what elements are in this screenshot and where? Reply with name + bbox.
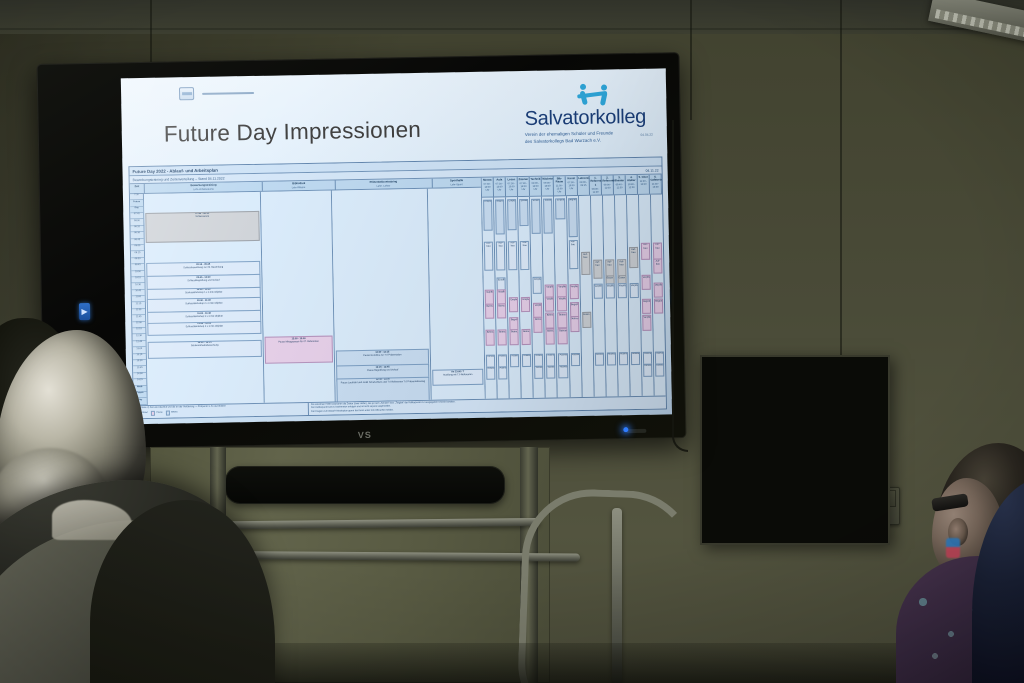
block-label: Ausklang: [560, 366, 568, 368]
block-label: SchlussWorkshop 3 x 3 min Objekte: [185, 315, 222, 318]
block-label: SchlussWorkshop 1 x 3 min Objekte: [185, 292, 222, 295]
block-label: Ausklang: [572, 354, 580, 356]
lane-bewerbungstraining: 07:30 - 08:15Schlussworte09:15 - 09:45Sc…: [144, 192, 265, 405]
schedule-block[interactable]: Auf­bau: [496, 241, 506, 271]
organisation-logo: Salvatorkolleg Verein der ehemaligen Sch…: [524, 83, 653, 146]
block-label: SchlussWorkshop 2 x 3 min Objekte: [185, 303, 222, 306]
schedule-block[interactable]: Einweisung: [543, 198, 553, 234]
block-label: Verpflegung: [558, 286, 566, 288]
block-label: SchlussBegrüßung und Vorlauf: [187, 279, 219, 282]
schedule-block[interactable]: Ausklang: [619, 352, 628, 365]
schedule-block[interactable]: Ausklang: [547, 365, 556, 378]
block-label: Einweisung: [521, 200, 529, 202]
schedule-document: Future Day 2022 - Ablauf- und Arbeitspla…: [128, 156, 667, 419]
block-label: Schlussworte: [195, 216, 209, 218]
schedule-block[interactable]: Ausklang: [534, 365, 543, 378]
schedule-block[interactable]: Auf­bau: [484, 241, 494, 271]
block-label: Verpflegung: [486, 291, 494, 293]
block-label: Begrüßung: [655, 300, 663, 302]
people-emblem-icon: [566, 83, 652, 109]
room-column-header: Nächste09:00 - 13:00 Uhr: [542, 176, 554, 195]
block-label: SchlussWorkshop 4 x 3 min Objekte: [186, 326, 223, 329]
schedule-block[interactable]: Empfang: [483, 199, 493, 231]
block-label: Pause Begrüßung und Vorlauf: [367, 369, 398, 372]
header-sporthalle: Sporthalle Lehr-/Sport: [432, 178, 481, 188]
schedule-block[interactable]: Empfang: [521, 297, 530, 312]
schedule-block[interactable]: Empfang: [533, 277, 542, 294]
presentation-slide: Future Day Impressionen Salvatorkolleg V…: [121, 68, 672, 424]
block-label: Ausklang: [656, 353, 664, 355]
block-label: Essen: [619, 277, 626, 279]
slide-caption-bar: [202, 91, 254, 94]
schedule-block[interactable]: Auf­bau: [629, 247, 638, 268]
slide-title: Future Day Impressionen: [164, 117, 422, 148]
schedule-block[interactable]: Begrüßung: [642, 299, 651, 314]
schedule-block[interactable]: Auf­bau: [581, 252, 590, 275]
room-column-header: Technik09:00 - 13:00 Uhr: [530, 177, 542, 196]
room-column-header: 1. Referent 108:00 - 11:00: [590, 176, 602, 195]
block-label: Auf­bau: [595, 261, 599, 266]
block-label: Verpflegung: [607, 285, 615, 287]
planning-body: 7:30FutureDay07:4508:0008:1508:3008:4509…: [130, 188, 485, 405]
block-label: Auf­bau: [498, 243, 502, 248]
room-time: 09:40 - 11:30: [615, 183, 625, 189]
schedule-block[interactable]: Betreuung: [546, 329, 555, 344]
legend-label: Betreu: [171, 411, 178, 414]
schedule-block[interactable]: Ausklang: [486, 366, 495, 379]
room-time: 07:30 - 13:00 Uhr: [506, 182, 516, 191]
schedule-block[interactable]: Auf­bau: [641, 243, 650, 260]
schedule-block[interactable]: 12:00 - 12:15SchlussUrlaubsbesuchung: [148, 339, 262, 359]
screen-area: Future Day Impressionen Salvatorkolleg V…: [121, 68, 672, 424]
block-label: Auf­bau: [486, 243, 490, 248]
schedule-grid: Zeit Bewerbungstraining Lehr-/Arbeitsräu…: [130, 174, 666, 405]
schedule-block[interactable]: Begrüßung: [495, 199, 505, 235]
header-praesentationstraining: Präsentationstraining Lehrr. Lehrer: [335, 179, 432, 190]
block-label: Ausklang: [500, 368, 508, 370]
block-label: Betreuung: [547, 314, 555, 316]
schedule-block[interactable]: Begrüßung: [654, 299, 663, 314]
legend-label: Pause: [156, 412, 162, 415]
schedule-block[interactable]: Betreuung: [485, 304, 494, 319]
block-label: Ausklang: [548, 355, 556, 357]
room-time: 07:30 - 13:00 Uhr: [494, 182, 504, 191]
schedule-block[interactable]: Verpflegung: [641, 275, 650, 290]
schedule-block[interactable]: Betreuung: [522, 329, 531, 344]
room-time: 08:00 - 11:00: [591, 187, 601, 193]
block-label: Ausklang: [656, 365, 664, 367]
block-label: Auf­bau: [607, 261, 611, 266]
leaning-board-panel: [700, 355, 890, 545]
block-label: Verpflegung: [546, 286, 554, 288]
schedule-block[interactable]: Ausklang: [643, 363, 652, 376]
room-time: 10:30 - 12:00: [627, 183, 637, 189]
water-bottle: [946, 538, 960, 558]
block-label: Betreuung: [523, 331, 531, 333]
block-label: Auf­bau: [619, 261, 623, 266]
block-label: Empfang: [510, 299, 518, 301]
block-label: Eroeffnung: [533, 200, 541, 202]
block-label: Ausklang: [620, 353, 628, 355]
block-label: Schlussbewerbung zur 09. Bewerbung: [183, 267, 223, 270]
block-label: Eroeffnung: [498, 279, 506, 281]
block-label: Empfang: [534, 278, 542, 280]
block-label: Auf­bau: [583, 253, 587, 258]
block-label: Verpflegung: [619, 285, 627, 287]
room-column-header: Aula07:30 - 13:00 Uhr: [494, 177, 506, 196]
schedule-block[interactable]: Betreuung: [570, 316, 579, 331]
schedule-block[interactable]: Auf­bau: [520, 241, 530, 271]
room-time: 11:30 - 13:00: [651, 183, 661, 189]
schedule-block[interactable]: Auf­bau: [593, 260, 602, 279]
photo-scene: ▶ ◀ VS Future Day Impressionen: [0, 0, 1024, 683]
room-column-header: Kunst07:30 - 13:00 Uhr: [566, 176, 578, 195]
schedule-block[interactable]: Betreuung: [498, 330, 507, 345]
footnote-left: 1) Schluss 2) Zeit wie Abschluf und die …: [134, 403, 309, 418]
schedule-block[interactable]: Verpflegung: [593, 284, 602, 299]
room-column-header: Bib-Raum11:00 - 13:00 Uhr: [554, 176, 566, 195]
room-column-header: 4. Atelier10:30 - 12:00: [626, 175, 638, 194]
block-label: Begrüßung: [571, 304, 579, 306]
block-label: Ausklang: [560, 354, 568, 356]
room-time: 09:00 - 13:00 Uhr: [542, 181, 552, 190]
block-label: Betreuung: [547, 330, 555, 332]
schedule-block[interactable]: Essen: [582, 312, 591, 327]
document-subtitle-left: Bewerbungstraining und Zeitenverteilung …: [133, 176, 225, 182]
schedule-block[interactable]: Verpflegung: [533, 303, 542, 318]
block-label: Verpflegung: [571, 286, 579, 288]
schedule-block[interactable]: Betreuung: [510, 330, 519, 345]
block-label: Ausklang: [596, 354, 604, 356]
schedule-block[interactable]: Auf­bau: [653, 258, 662, 273]
schedule-block[interactable]: Begrüßung: [570, 302, 579, 317]
block-label: Ausklang: [644, 365, 652, 367]
block-label: Auf­bau: [643, 244, 647, 249]
block-label: Ausklang: [536, 355, 544, 357]
schedule-block[interactable]: Einweisung: [519, 199, 529, 226]
wall-seam: [690, 0, 692, 120]
lane-bibliothek: 12:00 - 13:00Pause Mittagspause für 07. …: [261, 190, 336, 402]
block-label: Ausklang mit 7.0 Referenten: [443, 374, 472, 377]
slide-thumbnail-icon: [179, 87, 194, 100]
room-column-header: 2. Referentin09:00 - 11:00: [602, 175, 614, 194]
rooms-section: Mensa07:30 - 13:00 UhrAula07:30 - 13:00 …: [482, 174, 666, 398]
block-label: Auf­bau: [523, 242, 527, 247]
block-label: Auf­bau: [631, 248, 635, 253]
planning-section: Zeit Bewerbungstraining Lehr-/Arbeitsräu…: [130, 178, 486, 405]
header-bibliothek: Bibliothek Lehr-/Rhetor.: [263, 180, 336, 190]
block-label: Ausklang: [487, 356, 495, 358]
room-time: 07:30 - 13:00 Uhr: [566, 181, 576, 190]
schedule-block[interactable]: An 13:00 / 7Ausklang mit 7.0 Referenten: [432, 369, 484, 386]
block-label: Ausklang: [644, 353, 652, 355]
block-label: Pause Grundlos zur 7.0 Präsentation: [363, 354, 401, 357]
block-label: Betreuung: [571, 318, 579, 320]
block-label: Betreuung: [486, 305, 494, 307]
block-label: Betreuung: [535, 319, 543, 321]
schedule-block[interactable]: Verpflegung: [654, 283, 663, 298]
block-label: Begrüßung: [511, 319, 519, 321]
ir-sensor: [626, 429, 646, 433]
block-label: Betreuung: [498, 305, 506, 307]
block-label: Verpflegung: [559, 298, 567, 300]
schedule-block[interactable]: Verpflegung: [629, 283, 638, 298]
room-name: Bib-Raum: [554, 177, 564, 184]
block-label: Pause Mittagspause für 07. Referenten: [278, 341, 319, 344]
document-subtitle-right: 04.11.22: [646, 168, 659, 172]
block-label: Begrüßung: [569, 199, 577, 201]
schedule-block[interactable]: Empfang: [556, 198, 565, 219]
brand-name: Salvatorkolleg: [524, 107, 652, 129]
display-cable: [672, 120, 688, 452]
schedule-block[interactable]: Betreuung: [558, 329, 567, 344]
legend-swatch: [151, 411, 156, 416]
block-label: Begrüßung: [497, 200, 505, 202]
block-label: Ausklang: [488, 368, 496, 370]
block-label: Pause Laufstuhl und Jodel Schulschluss u…: [341, 381, 425, 385]
block-label: Ausklang: [632, 353, 640, 355]
room-column-header: Lesen07:30 - 13:00 Uhr: [506, 177, 518, 196]
legend-entry: Pause: [151, 411, 163, 416]
room-time: 09:00 - 11:00: [603, 184, 613, 190]
schedule-block[interactable]: Verpflegung: [545, 297, 554, 312]
schedule-block[interactable]: Auf­bau: [508, 241, 518, 271]
schedule-block[interactable]: Ausklang: [607, 352, 616, 365]
rooms-body: EmpfangAuf­bauVerpflegungBetreuungBetreu…: [482, 194, 666, 398]
block-label: Betreuung: [559, 330, 567, 332]
room-column-header: Lehrerzi.09:00 - 09:15: [578, 176, 590, 195]
block-label: Verpflegung: [643, 317, 651, 319]
schedule-block[interactable]: Betreuung: [534, 317, 543, 332]
block-label: SchlussUrlaubsbesuchung: [191, 345, 219, 348]
block-label: Ausklang: [499, 355, 507, 357]
schedule-block[interactable]: Verpflegung: [557, 296, 566, 311]
slide-corner-code: 04.04.22: [640, 133, 652, 137]
schedule-block[interactable]: Ausklang: [498, 366, 507, 379]
soundbar: [225, 466, 505, 504]
schedule-block[interactable]: Ausklang: [631, 351, 640, 364]
block-label: Auf­bau: [655, 244, 659, 249]
block-label: Einweisung: [545, 200, 553, 202]
block-label: Verpflegung: [547, 298, 555, 300]
room-lane: Auf­bauAuf­bauVerpflegungBegrüßungAuskla…: [651, 194, 666, 395]
block-label: Verpflegung: [655, 284, 663, 286]
block-label: Begrüßung: [643, 300, 651, 302]
room-time: 11:00 - 13:00 Uhr: [555, 184, 565, 193]
block-label: Ausklang: [536, 367, 544, 369]
schedule-block[interactable]: Begrüßung: [568, 198, 578, 238]
room-name: 2. Referentin: [602, 176, 612, 183]
room-column-header: Mensa07:30 - 13:00 Uhr: [482, 178, 494, 197]
block-label: Empfang: [522, 299, 530, 301]
schedule-block[interactable]: Verpflegung: [605, 283, 614, 298]
schedule-block[interactable]: Ausklang: [510, 354, 519, 367]
lane-praesentation: 12:00 - 12:15Pause Grundlos zur 7.0 Präs…: [332, 189, 432, 402]
schedule-block[interactable]: Betreuung: [497, 304, 506, 319]
block-label: Empfang: [509, 200, 517, 202]
block-label: Betreuung: [559, 314, 567, 316]
header-zeit: Zeit: [130, 184, 145, 193]
block-label: Ausklang: [524, 355, 532, 357]
schedule-block[interactable]: Betreuung: [546, 313, 555, 328]
schedule-block[interactable]: Verpflegung: [642, 315, 651, 330]
schedule-block[interactable]: 07:30 - 08:15Schlussworte: [145, 211, 259, 244]
room-name: 1. Referent 1: [590, 177, 600, 187]
block-label: Verpflegung: [631, 285, 639, 287]
block-label: Verpflegung: [498, 291, 506, 293]
block-label: Ausklang: [511, 355, 519, 357]
block-label: Ausklang: [608, 353, 616, 355]
schedule-block[interactable]: Betreuung: [558, 313, 567, 328]
schedule-block[interactable]: Betreuung: [486, 330, 495, 345]
play-icon: ▶: [81, 308, 87, 316]
block-label: Betreuung: [487, 331, 495, 333]
room-time: 09:00 - 09:15: [578, 181, 588, 187]
block-label: Auf­bau: [510, 243, 514, 248]
room-name: 4. Atelier: [626, 176, 636, 183]
schedule-block[interactable]: 11:30 - 12:00SchlussWorkshop 4 x 3 min O…: [147, 320, 261, 336]
block-label: Essen: [607, 277, 614, 279]
schedule-block[interactable]: Ausklang: [655, 363, 664, 376]
block-label: Verpflegung: [535, 304, 543, 306]
schedule-block[interactable]: Auf­bau: [568, 240, 578, 270]
block-label: Empfang: [557, 199, 565, 201]
room-column-header: 3. Theater09:40 - 11:30: [614, 175, 626, 194]
schedule-block[interactable]: Empfang: [507, 199, 517, 231]
room-time: 07:30 - 13:00 Uhr: [482, 182, 492, 191]
block-label: Essen: [583, 314, 590, 316]
schedule-block[interactable]: Ausklang: [595, 352, 604, 365]
schedule-block[interactable]: Ausklang: [522, 353, 531, 366]
room-column-header: Zimmer07:30 - 13:00 Uhr: [518, 177, 530, 196]
legend-entry: Betreu: [165, 410, 177, 415]
slide-app-chip[interactable]: [179, 86, 254, 100]
block-label: Auf­bau: [571, 242, 575, 247]
schedule-block[interactable]: Ausklang: [570, 353, 579, 366]
schedule-block[interactable]: Auf­bau: [653, 242, 662, 259]
legend-swatch: [165, 411, 170, 416]
block-label: Ausklang: [548, 367, 556, 369]
block-label: Betreuung: [511, 331, 519, 333]
lane-sporthalle: An 13:00 / 7Ausklang mit 7.0 Referenten: [428, 188, 485, 400]
brand-subtitle-line2: des Salvatorkollegs Bad Wurzach e.V.: [525, 136, 653, 145]
schedule-block[interactable]: Verpflegung: [569, 284, 578, 299]
room-time: 09:00 - 13:00 Uhr: [530, 182, 540, 191]
schedule-block[interactable]: Verpflegung: [617, 283, 626, 298]
schedule-block[interactable]: Empfang: [509, 297, 518, 312]
block-label: Verpflegung: [643, 276, 651, 278]
schedule-block[interactable]: 12:00 - 13:00Pause Mittagspause für 07. …: [264, 336, 333, 364]
block-label: Auf­bau: [656, 260, 660, 265]
room-time: 07:30 - 13:00 Uhr: [518, 182, 528, 191]
room-name: 3. Theater: [614, 176, 624, 183]
block-label: Betreuung: [499, 331, 507, 333]
room-time: 11:00 - 12:00: [638, 180, 648, 186]
bezel-next-button[interactable]: ▶: [79, 303, 90, 320]
room-column-header: 5. Chor11:00 - 12:00: [638, 175, 650, 194]
room-column-header: 6. Cafeteria11:30 - 13:00: [650, 174, 662, 193]
room-name: 6. Cafeteria: [650, 175, 660, 182]
block-label: Verpflegung: [595, 285, 603, 287]
block-label: Empfang: [485, 201, 493, 203]
power-led: [623, 427, 628, 432]
monitor-brand-label: VS: [358, 430, 372, 440]
wall-seam: [0, 28, 1024, 30]
schedule-block[interactable]: Eroeffnung: [531, 198, 541, 234]
schedule-block[interactable]: Ausklang: [559, 365, 568, 378]
